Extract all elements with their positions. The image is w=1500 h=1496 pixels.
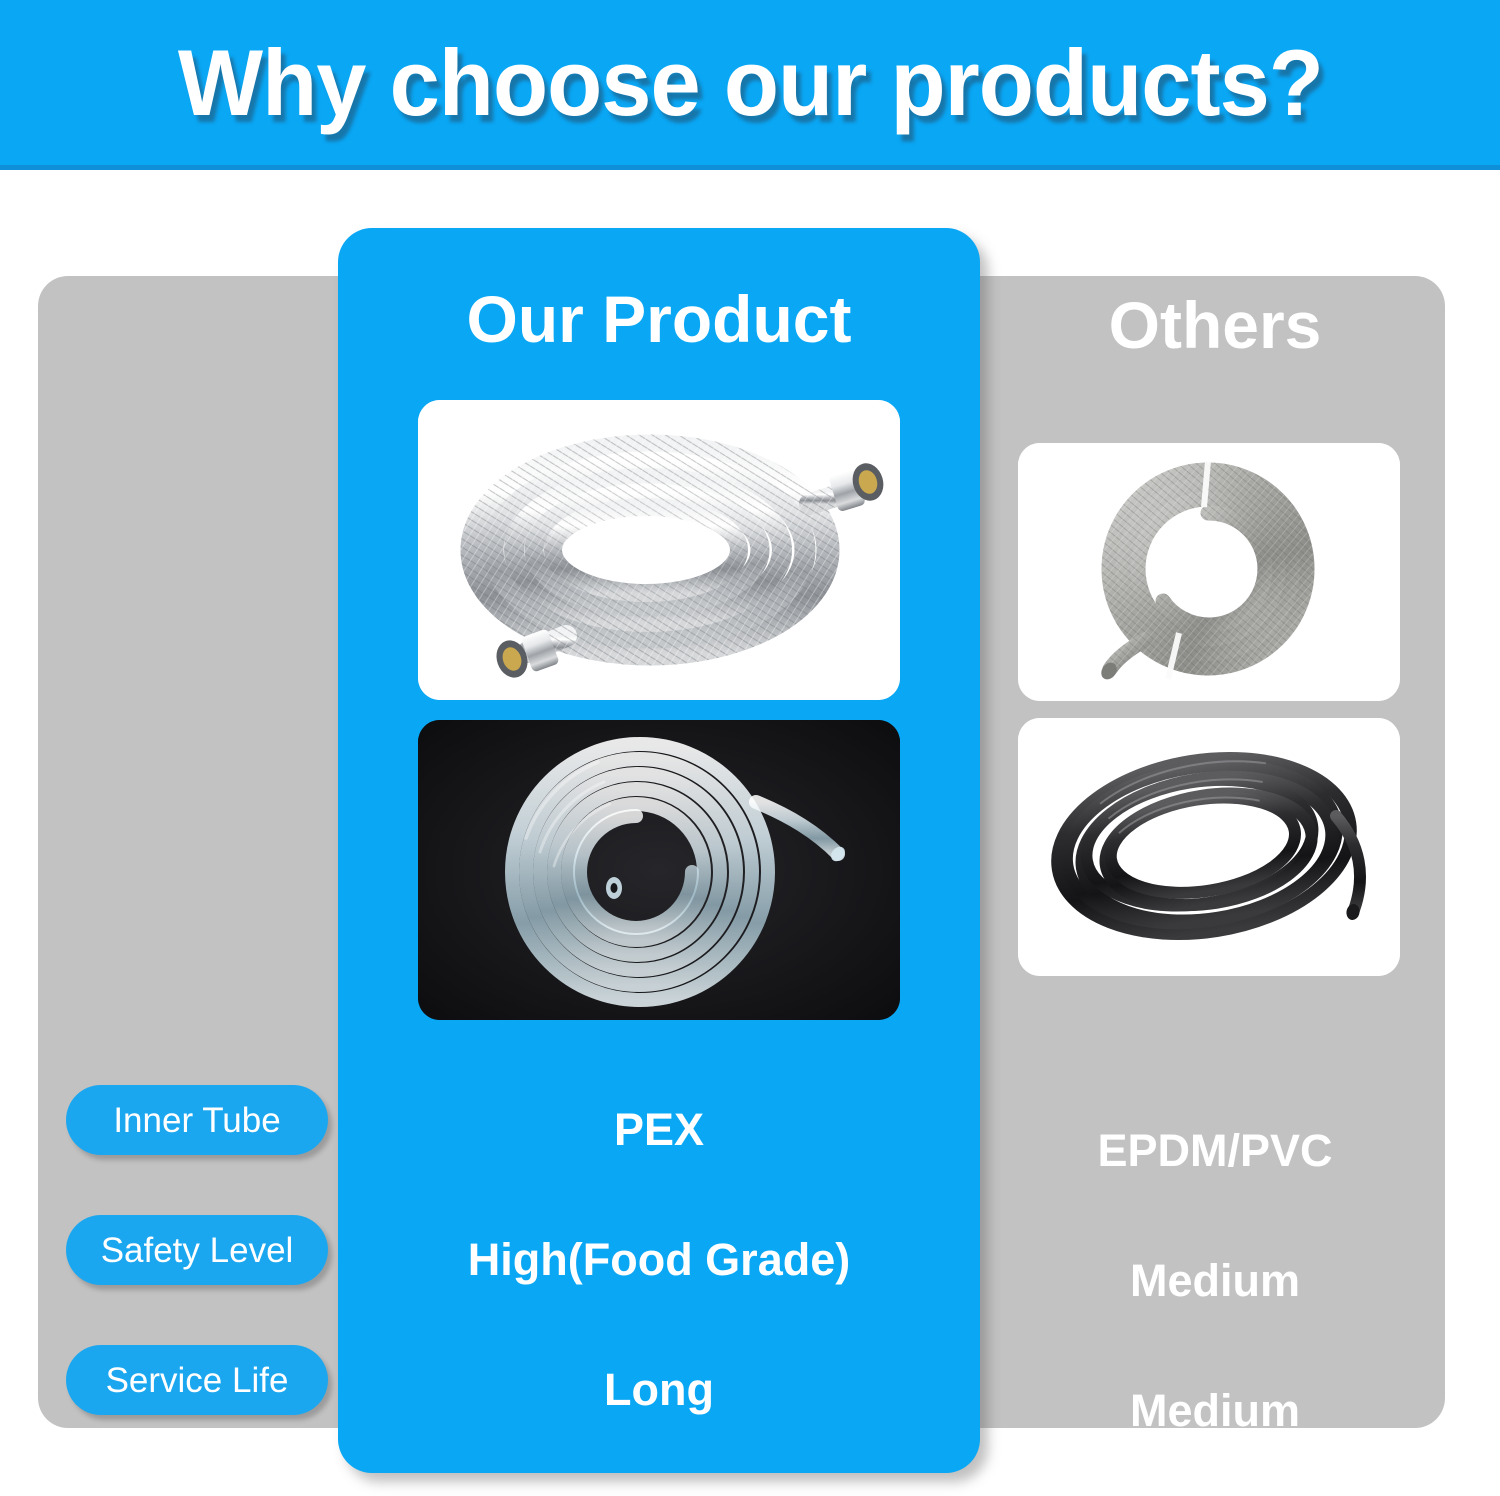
our-product-value-safety-level: High(Food Grade) [338, 1194, 980, 1324]
our-product-image-card-1 [418, 400, 900, 700]
gray-braided-hose-photo [1018, 443, 1400, 701]
row-label-text: Service Life [106, 1363, 289, 1398]
our-product-value-service-life: Long [338, 1324, 980, 1454]
others-heading: Others [1000, 292, 1430, 358]
row-label-text: Inner Tube [113, 1103, 280, 1138]
black-rubber-tubing-photo [1018, 718, 1400, 976]
others-value-inner-tube: EPDM/PVC [1000, 1085, 1430, 1215]
comparison-row-label-column: Inner Tube Safety Level Service Life [66, 1085, 328, 1475]
row-label-service-life: Service Life [66, 1345, 328, 1415]
our-product-heading: Our Product [338, 286, 980, 352]
our-product-image-card-2 [418, 720, 900, 1020]
others-value-service-life: Medium [1000, 1345, 1430, 1475]
our-product-card: Our Product [338, 228, 980, 1473]
row-label-inner-tube: Inner Tube [66, 1085, 328, 1155]
our-product-value-column: PEX High(Food Grade) Long [338, 1064, 980, 1454]
header-banner: Why choose our products? [0, 0, 1500, 170]
others-value-safety-level: Medium [1000, 1215, 1430, 1345]
others-image-card-1 [1018, 443, 1400, 701]
others-image-card-2 [1018, 718, 1400, 976]
row-label-safety-level: Safety Level [66, 1215, 328, 1285]
braided-stainless-steel-hose-photo [418, 400, 900, 700]
page-title: Why choose our products? [177, 36, 1322, 130]
our-product-value-inner-tube: PEX [338, 1064, 980, 1194]
clear-pex-tubing-photo [418, 720, 900, 1020]
others-value-column: EPDM/PVC Medium Medium [1000, 1085, 1430, 1475]
row-label-text: Safety Level [101, 1233, 294, 1268]
